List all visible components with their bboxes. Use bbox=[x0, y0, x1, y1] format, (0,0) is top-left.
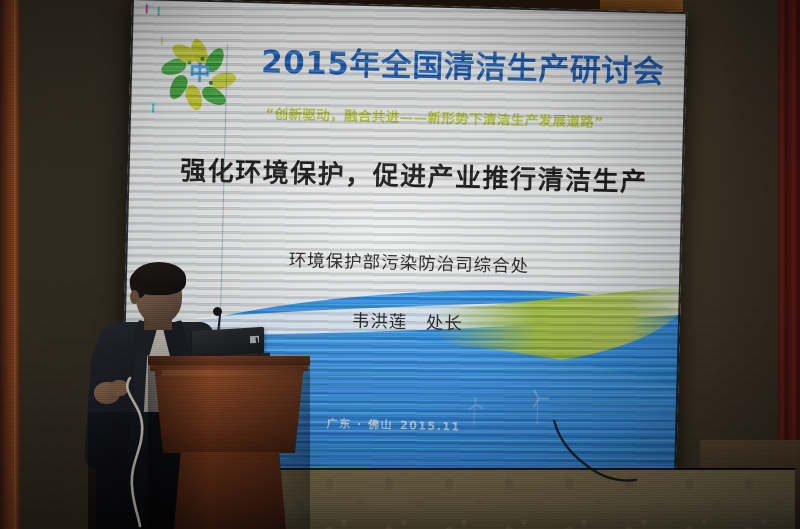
microphone-icon bbox=[213, 307, 222, 316]
photo-scene: 中 2015年全国清洁生产研讨会 “创新驱动，融合共进——新形势下清洁生产发展道… bbox=[0, 0, 800, 529]
turbine-blade bbox=[539, 397, 549, 399]
dead-pixel-mark bbox=[161, 37, 163, 46]
power-cable-path bbox=[118, 376, 238, 526]
presenter-ear bbox=[130, 290, 139, 304]
leaf-circle-logo: 中 bbox=[166, 40, 234, 108]
dead-pixel-mark bbox=[152, 104, 154, 113]
left-wood-trim-highlight bbox=[14, 0, 18, 529]
dead-pixel-mark bbox=[146, 4, 148, 13]
dead-pixel-mark bbox=[157, 6, 159, 15]
floor-cable-path bbox=[552, 420, 662, 510]
logo-zhong-character: 中 bbox=[189, 62, 211, 84]
turbine-blade bbox=[475, 404, 483, 409]
